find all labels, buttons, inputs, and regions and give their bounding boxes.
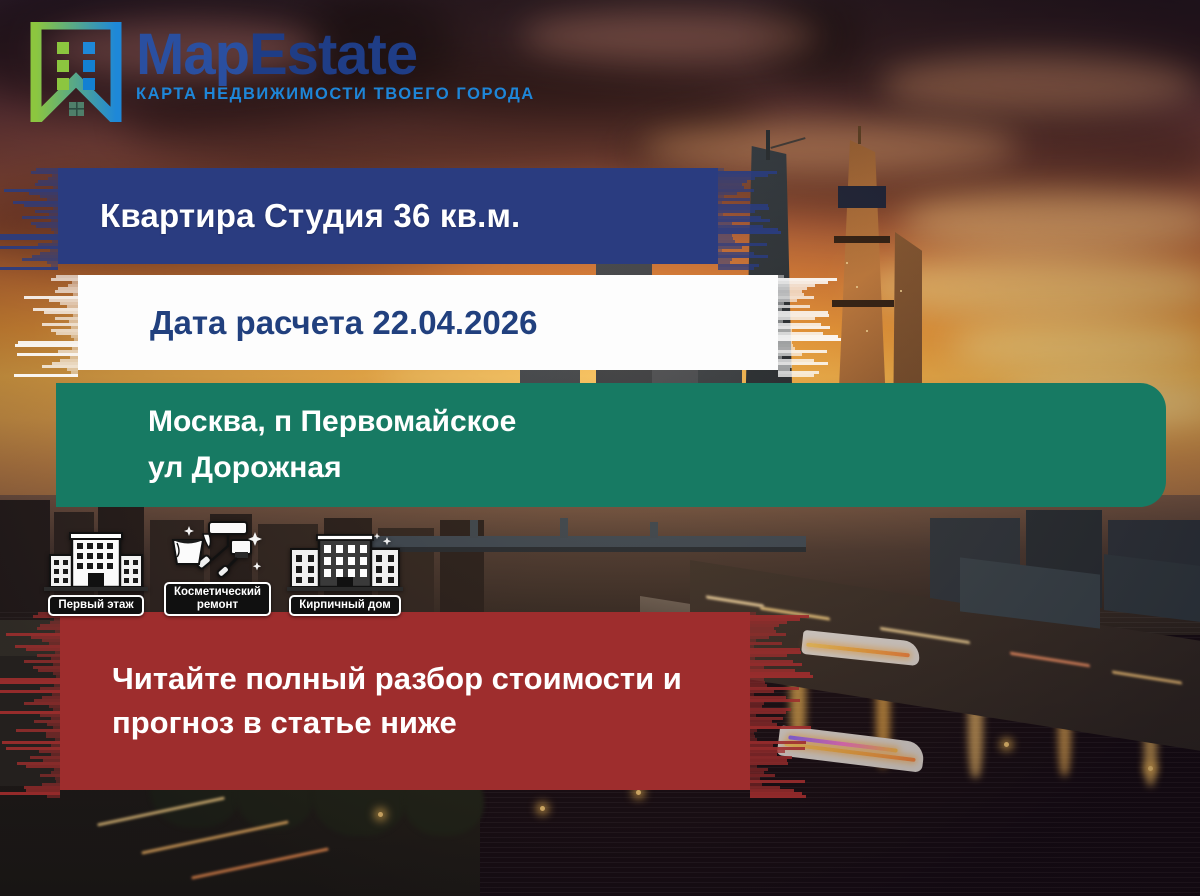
banner-calculation-date: Дата расчета 22.04.2026	[78, 275, 778, 370]
address-line-2: ул Дорожная	[148, 445, 1166, 491]
cta-text: Читайте полный разбор стоимости и прогно…	[60, 657, 750, 745]
calculation-date-text: Дата расчета 22.04.2026	[78, 304, 778, 342]
badge-label: Косметический ремонт	[164, 582, 271, 616]
banner-address: Москва, п Первомайское ул Дорожная	[56, 383, 1166, 507]
building-first-floor-icon	[44, 531, 148, 593]
promo-image: MapEstate КАРТА НЕДВИЖИМОСТИ ТВОЕГО ГОРО…	[0, 0, 1200, 896]
badge-first-floor: Первый этаж	[44, 531, 148, 616]
logo-word-map: Map	[136, 22, 249, 87]
badge-label: Первый этаж	[48, 595, 143, 616]
badge-cosmetic-renovation: Косметический ремонт	[164, 518, 271, 616]
logo-tagline: КАРТА НЕДВИЖИМОСТИ ТВОЕГО ГОРОДА	[136, 85, 535, 104]
banner-property-title: Квартира Студия 36 кв.м.	[58, 168, 718, 264]
logo-word-estate: Estate	[249, 22, 417, 87]
property-title-text: Квартира Студия 36 кв.м.	[58, 197, 718, 235]
address-line-1: Москва, п Первомайское	[148, 399, 1166, 445]
logo-wordmark: MapEstate	[136, 28, 535, 83]
paint-roller-brush-icon	[169, 518, 265, 580]
logo[interactable]: MapEstate КАРТА НЕДВИЖИМОСТИ ТВОЕГО ГОРО…	[30, 22, 535, 122]
badge-brick-house: Кирпичный дом	[287, 531, 403, 616]
badge-label: Кирпичный дом	[289, 595, 401, 616]
map-pin-building-icon	[30, 22, 122, 122]
brick-building-icon	[287, 531, 403, 593]
feature-badges: Первый этаж	[44, 518, 403, 616]
banner-cta: Читайте полный разбор стоимости и прогно…	[60, 612, 750, 790]
address-text: Москва, п Первомайское ул Дорожная	[56, 399, 1166, 490]
